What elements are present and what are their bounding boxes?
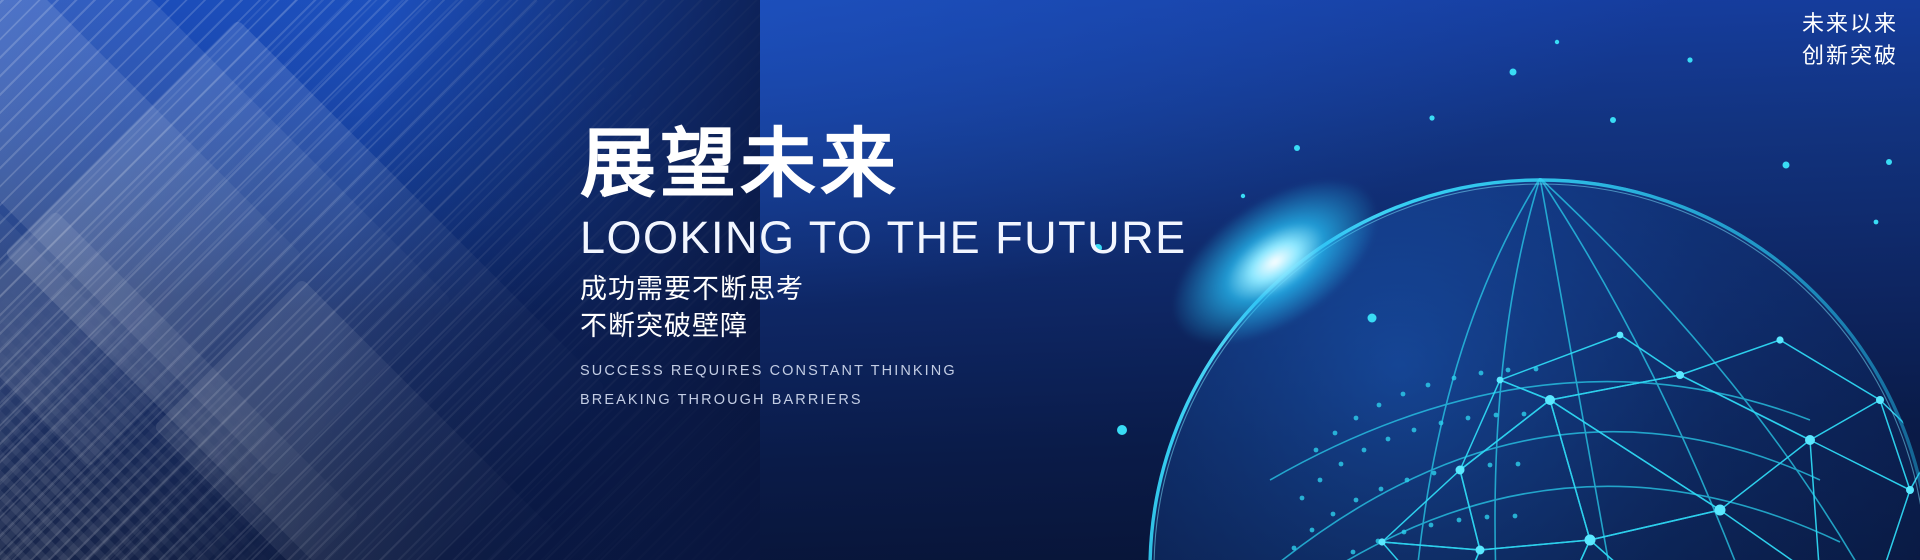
tagline-en-line-1: SUCCESS REQUIRES CONSTANT THINKING	[580, 357, 1200, 385]
hero-banner: 未来以来 创新突破 展望未来 LOOKING TO THE FUTURE 成功需…	[0, 0, 1920, 560]
checker-dot-grid	[0, 213, 387, 560]
decorative-rect	[4, 19, 605, 560]
corner-slogan-line-1: 未来以来	[1802, 8, 1898, 40]
decorative-rect	[0, 210, 360, 560]
decorative-rect	[0, 0, 302, 467]
tagline-en-line-2: BREAKING THROUGH BARRIERS	[580, 386, 1200, 414]
tagline-cn-line-2: 不断突破壁障	[580, 308, 1200, 345]
decorative-rect	[0, 0, 451, 476]
wireframe-globe	[1120, 150, 1920, 560]
tagline-cn-line-1: 成功需要不断思考	[580, 271, 1200, 308]
decorative-rect	[153, 278, 556, 560]
page-title: 展望未来	[580, 126, 1200, 204]
corner-slogan-line-2: 创新突破	[1802, 40, 1898, 72]
globe-icon	[1120, 150, 1920, 560]
corner-slogan: 未来以来 创新突破	[1802, 8, 1898, 72]
decorative-rect	[0, 98, 117, 473]
hero-copy: 展望未来 LOOKING TO THE FUTURE 成功需要不断思考 不断突破…	[580, 126, 1200, 414]
page-subtitle: LOOKING TO THE FUTURE	[580, 214, 1200, 261]
